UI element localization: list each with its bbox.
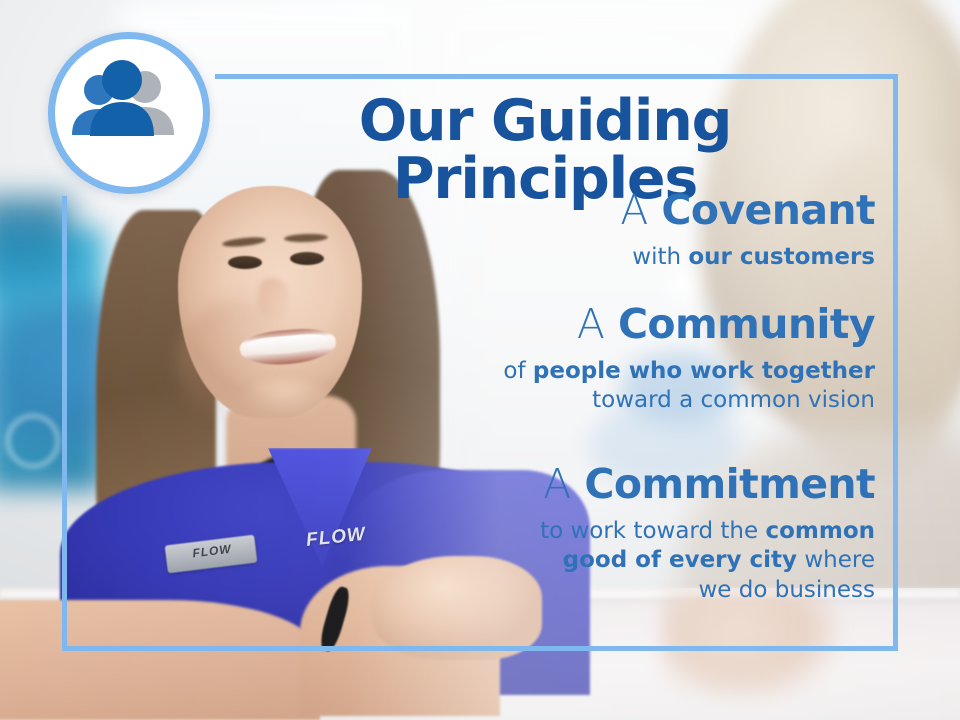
principle-1-keyword: Covenant [661, 186, 875, 234]
frame-border-top [215, 74, 898, 79]
principle-community: A Community of people who work together … [300, 302, 875, 416]
guiding-principles-poster: FLOW FLOW Our Guiding Principles A Coven… [0, 0, 960, 720]
principle-1-sub-regular: with [632, 244, 688, 270]
principle-2-sub-bold: people who work together [533, 358, 875, 384]
principle-1-subtext: with our customers [300, 243, 875, 272]
principle-3-heading: A Commitment [300, 462, 875, 508]
principle-3-sub-line-2: good of every city where [300, 546, 875, 575]
principle-1-article: A [620, 186, 661, 234]
principle-1-heading: A Covenant [300, 188, 875, 234]
principle-2-keyword: Community [618, 300, 875, 348]
frame-border-bottom [62, 646, 898, 651]
people-group-icon [48, 32, 196, 180]
principle-1-sub-bold: our customers [688, 244, 875, 270]
principle-2-heading: A Community [300, 302, 875, 348]
principle-3-sub-line-2-bold: good of every city [563, 547, 797, 573]
principle-2-sub-regular: of [503, 358, 532, 384]
principle-covenant: A Covenant with our customers [300, 188, 875, 272]
principle-2-sub-line-1: of people who work together [300, 357, 875, 386]
principle-2-sub-line-2: toward a common vision [300, 386, 875, 415]
frame-border-left [62, 196, 67, 651]
principle-3-sub-line-3: we do business [300, 576, 875, 605]
principle-3-subtext: to work toward the common good of every … [300, 517, 875, 605]
principle-2-subtext: of people who work together toward a com… [300, 357, 875, 416]
principle-commitment: A Commitment to work toward the common g… [300, 462, 875, 605]
principle-2-article: A [577, 300, 618, 348]
principle-3-article: A [543, 460, 584, 508]
principle-3-sub-line-2-rest: where [797, 547, 875, 573]
principle-3-sub-regular: to work toward the [540, 518, 765, 544]
principle-3-sub-bold: common [765, 518, 875, 544]
frame-border-right [893, 74, 898, 651]
principle-3-sub-line-1: to work toward the common [300, 517, 875, 546]
principle-3-keyword: Commitment [584, 460, 875, 508]
